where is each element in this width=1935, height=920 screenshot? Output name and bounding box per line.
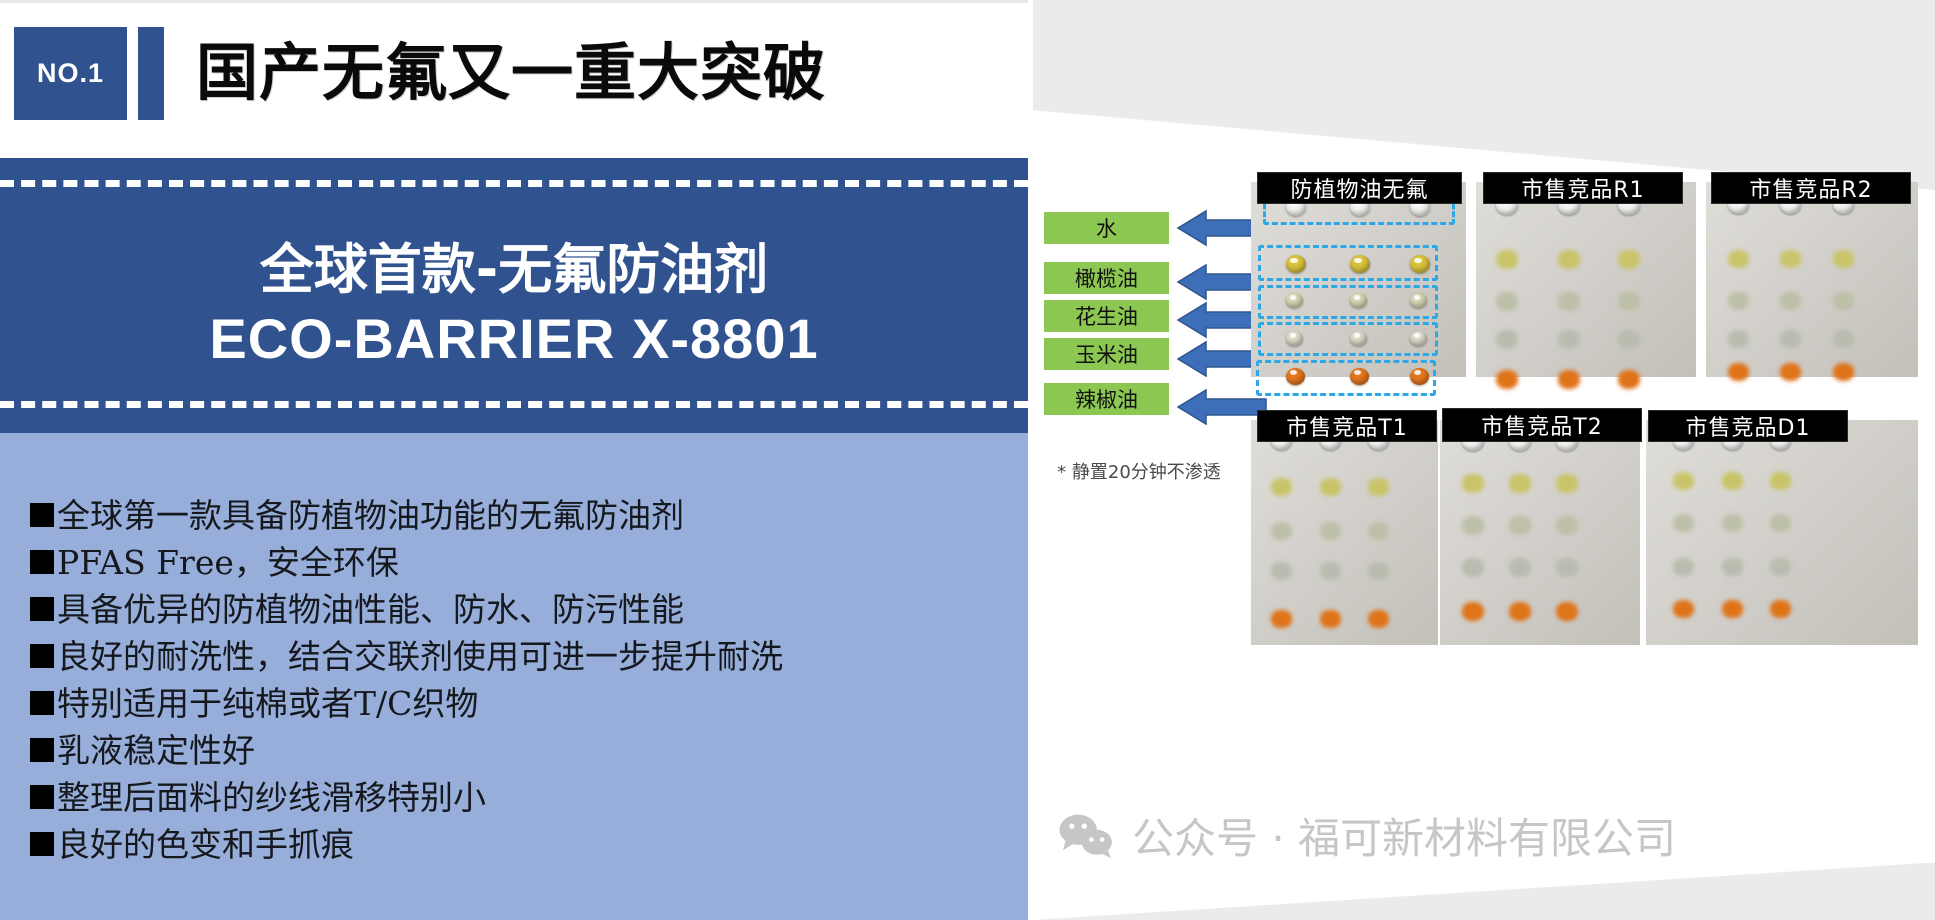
stain-spot xyxy=(1271,478,1292,496)
hero-text-group: 全球首款-无氟防油剂 ECO-BARRIER X-8801 xyxy=(0,198,1028,398)
hero-banner: 全球首款-无氟防油剂 ECO-BARRIER X-8801 xyxy=(0,158,1028,433)
stain-spot xyxy=(1673,600,1694,618)
list-item-label: 全球第一款具备防植物油功能的无氟防油剂 xyxy=(57,493,684,538)
stain-spot xyxy=(1722,600,1743,618)
test-result-figure: 水 橄榄油 花生油 玉米油 辣椒油 * 静置20分钟不渗透 xyxy=(1028,0,1935,920)
test-panel-label-d1: 市售竞品D1 xyxy=(1648,410,1848,442)
list-item: 良好的色变和手抓痕 xyxy=(30,822,1028,867)
stain-spot xyxy=(1728,330,1749,348)
stain-spot xyxy=(1673,472,1694,490)
no1-badge-label: NO.1 xyxy=(37,58,104,89)
stain-spot xyxy=(1368,522,1389,540)
stain-spot xyxy=(1722,558,1743,576)
list-item-label: 特别适用于纯棉或者T/C织物 xyxy=(57,681,478,726)
list-item-label: 良好的色变和手抓痕 xyxy=(57,822,354,867)
stain-spot xyxy=(1722,514,1743,532)
stain-spot xyxy=(1462,474,1484,493)
stain-spot xyxy=(1780,363,1801,381)
stain-spot xyxy=(1833,363,1854,381)
watermark: 公众号 · 福可新材料有限公司 xyxy=(1058,805,1676,866)
hero-title-en: ECO-BARRIER X-8801 xyxy=(209,306,818,371)
stain-spot xyxy=(1496,370,1518,389)
highlight-box-olive xyxy=(1258,245,1438,281)
test-panel-label-fluorine-free: 防植物油无氟 xyxy=(1257,172,1462,204)
no1-badge: NO.1 xyxy=(14,27,127,120)
square-bullet-icon xyxy=(30,550,54,574)
stain-spot xyxy=(1618,292,1640,311)
stain-spot xyxy=(1271,610,1292,628)
stain-spot xyxy=(1509,602,1531,621)
stain-spot xyxy=(1770,600,1791,618)
stain-spot xyxy=(1558,292,1580,311)
stain-spot xyxy=(1618,330,1640,349)
list-item: 具备优异的防植物油性能、防水、防污性能 xyxy=(30,587,1028,632)
list-item: PFAS Free，安全环保 xyxy=(30,540,1028,585)
square-bullet-icon xyxy=(30,832,54,856)
hero-dashed-divider-top xyxy=(0,180,1028,187)
stain-spot xyxy=(1558,370,1580,389)
list-item: 特别适用于纯棉或者T/C织物 xyxy=(30,681,1028,726)
stain-spot xyxy=(1722,472,1743,490)
stain-spot xyxy=(1271,522,1292,540)
stain-spot xyxy=(1368,610,1389,628)
list-item-label: 乳液稳定性好 xyxy=(57,728,255,773)
stain-spot xyxy=(1770,558,1791,576)
stain-spot xyxy=(1509,558,1531,577)
stain-spot xyxy=(1368,562,1389,580)
stain-spot xyxy=(1770,514,1791,532)
stain-spot xyxy=(1496,292,1518,311)
stain-spot xyxy=(1462,602,1484,621)
highlight-box-chili xyxy=(1256,360,1436,396)
stain-spot xyxy=(1556,516,1578,535)
list-item: 乳液稳定性好 xyxy=(30,728,1028,773)
stain-spot xyxy=(1780,250,1801,268)
stain-spot xyxy=(1728,363,1749,381)
stain-spot xyxy=(1673,558,1694,576)
stain-spot xyxy=(1728,292,1749,310)
stain-spot xyxy=(1833,330,1854,348)
stain-spot xyxy=(1496,330,1518,349)
hero-dashed-divider-bottom xyxy=(0,401,1028,408)
stain-spot xyxy=(1368,478,1389,496)
stain-spot xyxy=(1780,330,1801,348)
list-item: 全球第一款具备防植物油功能的无氟防油剂 xyxy=(30,493,1028,538)
test-panel-label-r1: 市售竞品R1 xyxy=(1483,172,1683,204)
stain-spot xyxy=(1462,516,1484,535)
stain-spot xyxy=(1509,516,1531,535)
stain-spot xyxy=(1320,522,1341,540)
stain-spot xyxy=(1558,330,1580,349)
square-bullet-icon xyxy=(30,644,54,668)
list-item: 整理后面料的纱线滑移特别小 xyxy=(30,775,1028,820)
square-bullet-icon xyxy=(30,597,54,621)
test-panel-label-t1: 市售竞品T1 xyxy=(1257,410,1437,442)
stain-spot xyxy=(1618,370,1640,389)
stain-spot xyxy=(1618,250,1640,269)
test-panel-label-t2: 市售竞品T2 xyxy=(1442,408,1642,442)
left-column: NO.1 国产无氟又一重大突破 全球首款-无氟防油剂 ECO-BARRIER X… xyxy=(0,0,1028,920)
droplet-layer xyxy=(1028,0,1935,920)
stain-spot xyxy=(1770,472,1791,490)
header-band: NO.1 国产无氟又一重大突破 xyxy=(0,0,1028,158)
stain-spot xyxy=(1271,562,1292,580)
hero-title-cn: 全球首款-无氟防油剂 xyxy=(260,225,768,304)
stain-spot xyxy=(1780,292,1801,310)
watermark-text: 公众号 · 福可新材料有限公司 xyxy=(1132,805,1676,866)
stain-spot xyxy=(1556,474,1578,493)
test-panel-label-r2: 市售竞品R2 xyxy=(1711,172,1911,204)
stain-spot xyxy=(1833,250,1854,268)
highlight-box-peanut xyxy=(1258,285,1438,319)
stain-spot xyxy=(1462,558,1484,577)
list-item-label: 整理后面料的纱线滑移特别小 xyxy=(57,775,486,820)
list-item-label: 良好的耐洗性，结合交联剂使用可进一步提升耐洗 xyxy=(57,634,783,679)
stain-spot xyxy=(1496,250,1518,269)
wechat-icon xyxy=(1058,812,1116,860)
stain-spot xyxy=(1556,558,1578,577)
header-accent-bar xyxy=(138,27,164,120)
stain-spot xyxy=(1509,474,1531,493)
list-item-label: PFAS Free，安全环保 xyxy=(57,540,399,585)
square-bullet-icon xyxy=(30,503,54,527)
list-item-label: 具备优异的防植物油性能、防水、防污性能 xyxy=(57,587,684,632)
stain-spot xyxy=(1833,292,1854,310)
square-bullet-icon xyxy=(30,785,54,809)
stain-spot xyxy=(1320,478,1341,496)
page-title: 国产无氟又一重大突破 xyxy=(196,23,826,123)
square-bullet-icon xyxy=(30,738,54,762)
stain-spot xyxy=(1673,514,1694,532)
slide-root: NO.1 国产无氟又一重大突破 全球首款-无氟防油剂 ECO-BARRIER X… xyxy=(0,0,1935,920)
stain-spot xyxy=(1320,562,1341,580)
stain-spot xyxy=(1320,610,1341,628)
list-item: 良好的耐洗性，结合交联剂使用可进一步提升耐洗 xyxy=(30,634,1028,679)
square-bullet-icon xyxy=(30,691,54,715)
stain-spot xyxy=(1558,250,1580,269)
stain-spot xyxy=(1728,250,1749,268)
feature-list: 全球第一款具备防植物油功能的无氟防油剂 PFAS Free，安全环保 具备优异的… xyxy=(0,433,1028,920)
highlight-box-corn xyxy=(1258,322,1438,356)
stain-spot xyxy=(1556,602,1578,621)
